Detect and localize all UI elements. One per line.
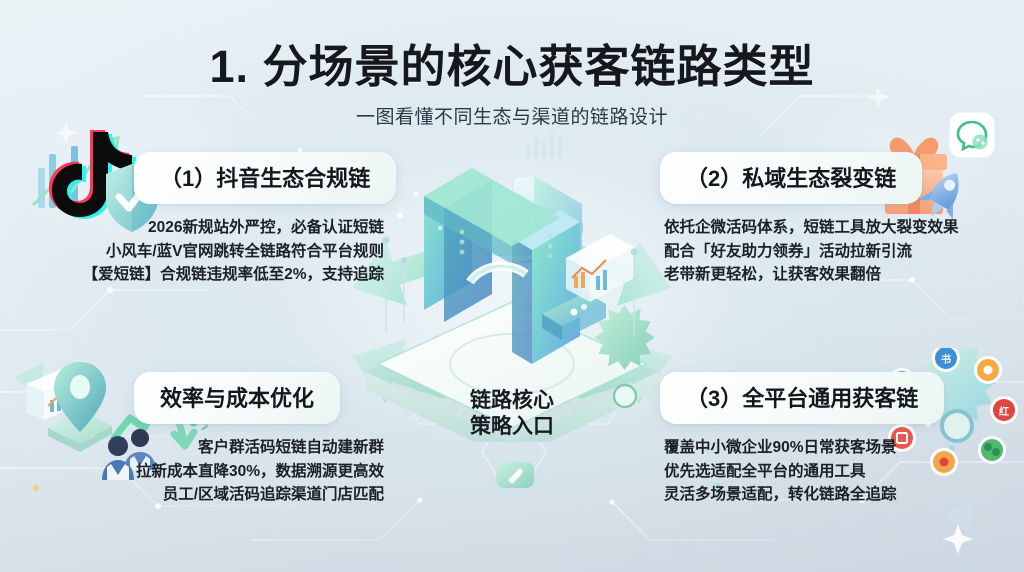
card-line: 灵活多场景适配，转化链路全追踪 xyxy=(664,483,1022,507)
svg-text:书: 书 xyxy=(941,353,951,366)
card-line: 小风车/蓝V官网跳转全链路符合平台规则 xyxy=(18,240,384,264)
card-line: 【爱短链】合规链违规率低至2%，支持追踪 xyxy=(18,263,384,287)
hub-label-line-1: 链路核心 xyxy=(0,388,1024,414)
page-header: 1. 分场景的核心获客链路类型 一图看懂不同生态与渠道的链路设计 xyxy=(0,0,1024,129)
sparkline-icon xyxy=(526,132,562,158)
card-line: 老带新更轻松，让获客效果翻倍 xyxy=(664,263,1022,287)
card-line: 配合「好友助力领券」活动拉新引流 xyxy=(664,240,1022,264)
rocket-badge-icon xyxy=(486,452,542,501)
card-body-private-domain: 依托企微活码体系，短链工具放大裂变效果 配合「好友助力领券」活动拉新引流 老带新… xyxy=(650,216,1022,287)
page-title: 1. 分场景的核心获客链路类型 xyxy=(0,42,1024,92)
card-line: 依托企微活码体系，短链工具放大裂变效果 xyxy=(664,216,1022,240)
card-line: 优先选适配全平台的通用工具 xyxy=(664,460,1022,484)
card-douyin-compliance-chain[interactable]: （1）抖音生态合规链 2026新规站外严控，必备认证短链 小风车/蓝V官网跳转全… xyxy=(18,152,390,287)
card-body-efficiency: 客户群活码短链自动建新群 拉新成本直降30%，数据溯源更高效 员工/区域活码追踪… xyxy=(18,436,390,507)
card-line: 拉新成本直降30%，数据溯源更高效 xyxy=(18,460,384,484)
card-body-douyin: 2026新规站外严控，必备认证短链 小风车/蓝V官网跳转全链路符合平台规则 【爱… xyxy=(18,216,390,287)
card-line: 员工/区域活码追踪渠道门店匹配 xyxy=(18,483,384,507)
card-title-douyin: （1）抖音生态合规链 xyxy=(134,152,396,204)
hub-label: 链路核心 策略入口 xyxy=(0,388,1024,441)
page-subtitle: 一图看懂不同生态与渠道的链路设计 xyxy=(0,102,1024,129)
card-title-private-domain: （2）私域生态裂变链 xyxy=(660,152,922,204)
card-private-domain-fission-chain[interactable]: （2）私域生态裂变链 依托企微活码体系，短链工具放大裂变效果 配合「好友助力领券… xyxy=(650,152,1022,287)
card-body-all-platform: 覆盖中小微企业90%日常获客场景 优先选适配全平台的通用工具 灵活多场景适配，转… xyxy=(650,436,1022,507)
card-line: 2026新规站外严控，必备认证短链 xyxy=(18,216,384,240)
hub-label-line-2: 策略入口 xyxy=(0,414,1024,440)
